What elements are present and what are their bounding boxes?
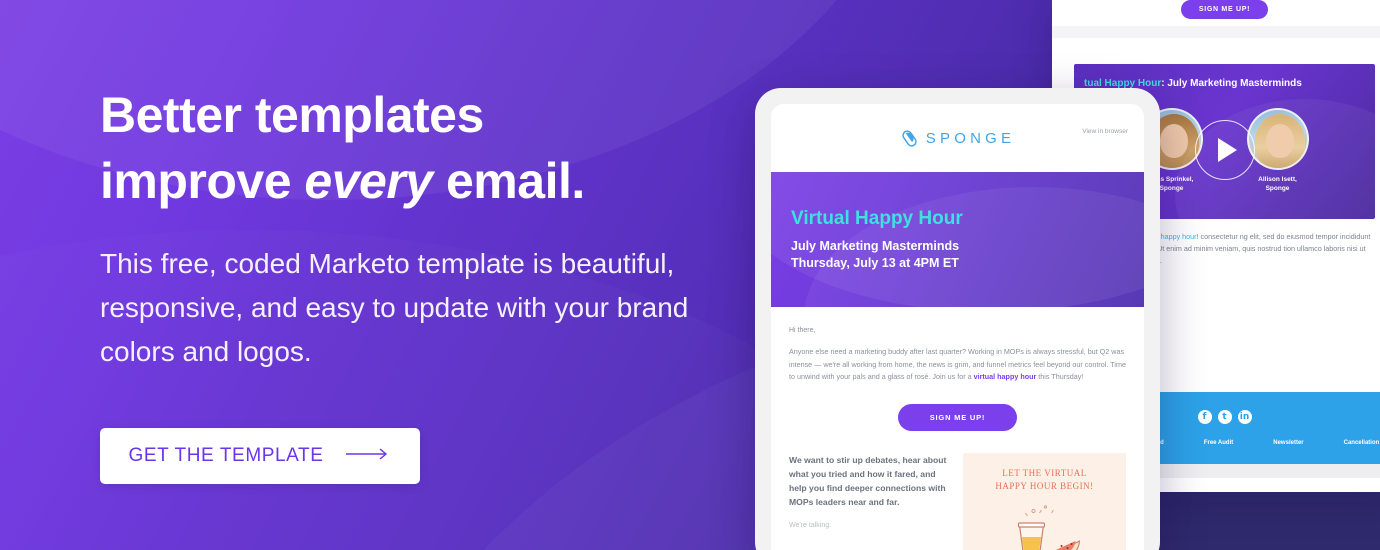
phone-screen: SPONGE View in browser Virtual Happy Hou… xyxy=(771,104,1144,550)
play-icon[interactable] xyxy=(1195,120,1255,180)
two-column-section: We want to stir up debates, hear about w… xyxy=(789,453,1126,550)
view-in-browser-link[interactable]: View in browser xyxy=(1082,128,1128,135)
email-greeting: Hi there, xyxy=(789,327,1126,334)
cta-label: GET THE TEMPLATE xyxy=(128,445,323,467)
email-paragraph: Anyone else need a marketing buddy after… xyxy=(789,346,1126,384)
linkedin-icon[interactable]: in xyxy=(1238,410,1252,424)
desktop-section-divider xyxy=(1052,26,1380,38)
email-paragraph-post: this Thursday! xyxy=(1036,372,1083,381)
email-banner: Virtual Happy Hour July Marketing Master… xyxy=(771,172,1144,307)
banner-title: Virtual Happy Hour xyxy=(791,208,1124,230)
footer-link-newsletter[interactable]: Newsletter xyxy=(1273,440,1303,446)
phone-mockup: SPONGE View in browser Virtual Happy Hou… xyxy=(755,88,1160,550)
background-dark-strip xyxy=(1150,486,1380,550)
headline-line-2-pre: improve xyxy=(100,153,304,209)
column-note: We're talking: xyxy=(789,519,949,533)
headline-line-2-post: email. xyxy=(433,153,585,209)
email-body: Hi there, Anyone else need a marketing b… xyxy=(771,307,1144,550)
sponge-logo: SPONGE xyxy=(900,129,1015,148)
presenter-org: Sponge xyxy=(1160,185,1184,192)
avatar xyxy=(1247,108,1309,170)
column-text: We want to stir up debates, hear about w… xyxy=(789,453,949,550)
drinks-illustration-icon xyxy=(971,501,1118,550)
email-header: SPONGE View in browser xyxy=(771,104,1144,172)
illustration-card: LET THE VIRTUAL HAPPY HOUR BEGIN! xyxy=(963,453,1126,550)
page-title: Better templates improve every email. xyxy=(100,82,720,214)
get-the-template-button[interactable]: GET THE TEMPLATE xyxy=(100,428,420,484)
presenter: Allison Isett, Sponge xyxy=(1247,108,1309,193)
hero-subheading: This free, coded Marketo template is bea… xyxy=(100,242,720,374)
presenter-org: Sponge xyxy=(1266,185,1290,192)
video-title-white: : July Marketing Masterminds xyxy=(1161,78,1302,89)
facebook-icon[interactable]: f xyxy=(1198,410,1212,424)
sign-me-up-button[interactable]: SIGN ME UP! xyxy=(898,404,1017,431)
desktop-signup-row: SIGN ME UP! xyxy=(1052,0,1380,26)
virtual-happy-hour-link[interactable]: virtual happy hour xyxy=(974,372,1037,381)
desktop-sign-me-up-button[interactable]: SIGN ME UP! xyxy=(1181,0,1268,19)
illustration-heading: LET THE VIRTUAL HAPPY HOUR BEGIN! xyxy=(971,467,1118,493)
column-paragraph: We want to stir up debates, hear about w… xyxy=(789,453,949,509)
arrow-right-icon xyxy=(346,447,392,465)
banner-subtitle: July Marketing Masterminds xyxy=(791,238,1124,255)
headline-emphasis: every xyxy=(304,153,432,209)
signup-row: SIGN ME UP! xyxy=(789,404,1126,431)
banner-datetime: Thursday, July 13 at 4PM ET xyxy=(791,255,1124,272)
sponge-logo-icon xyxy=(900,129,919,148)
headline-line-1: Better templates xyxy=(100,87,484,143)
hero-copy: Better templates improve every email. Th… xyxy=(100,82,720,374)
footer-link-cancellation[interactable]: Cancellation P xyxy=(1344,440,1380,446)
twitter-icon[interactable]: t xyxy=(1218,410,1232,424)
illustration-line-1: LET THE VIRTUAL xyxy=(1002,468,1086,478)
footer-link-free-audit[interactable]: Free Audit xyxy=(1204,440,1233,446)
sponge-logo-text: SPONGE xyxy=(926,130,1015,147)
presenter-name: Allison Isett, xyxy=(1258,176,1297,183)
illustration-line-2: HAPPY HOUR BEGIN! xyxy=(995,481,1093,491)
